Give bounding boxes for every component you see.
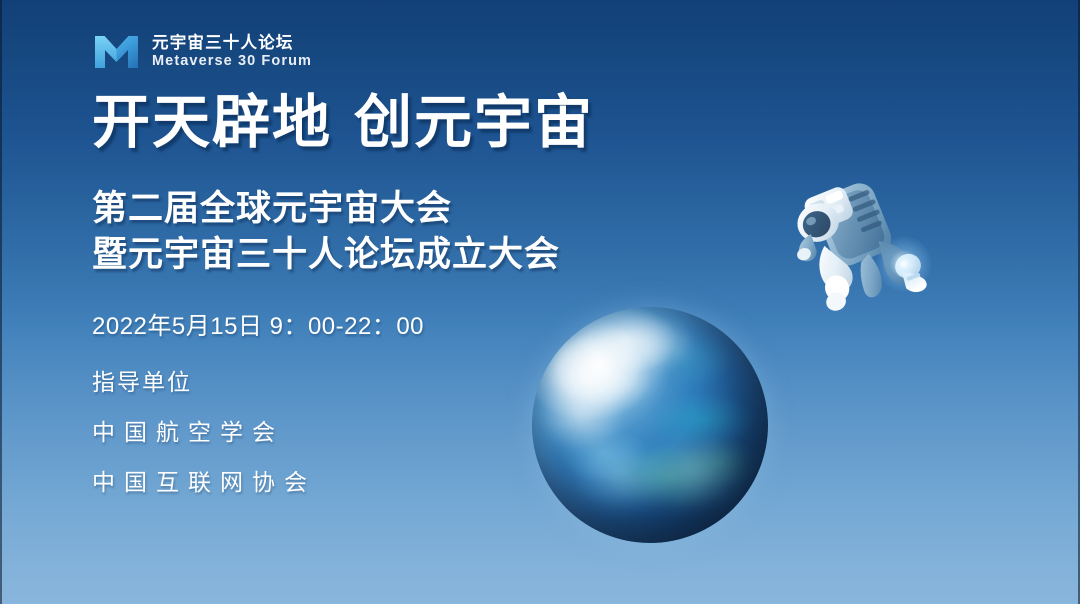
earth-sphere: [532, 307, 768, 543]
headline-part-2: 创元宇宙: [354, 90, 594, 155]
poster-subheadline: 第二届全球元宇宙大会 暨元宇宙三十人论坛成立大会: [92, 186, 560, 278]
earth-globe: [532, 307, 768, 543]
headline-part-1: 开天辟地: [92, 90, 332, 155]
frame-edge-left: [0, 0, 2, 604]
poster-headline: 开天辟地创元宇宙: [92, 92, 594, 155]
event-details: 2022年5月15日 9：00-22：00 指导单位 中国航空学会 中国互联网协…: [92, 306, 424, 513]
forum-logo: 元宇宙三十人论坛 Metaverse 30 Forum: [92, 28, 312, 75]
organizer-item: 中国互联网协会: [92, 463, 424, 497]
logo-chinese-name: 元宇宙三十人论坛: [152, 35, 312, 52]
subheadline-line-2: 暨元宇宙三十人论坛成立大会: [92, 232, 560, 278]
floating-astronaut: [780, 152, 940, 324]
organizer-item: 中国航空学会: [92, 413, 424, 447]
astronaut-illustration: [780, 152, 940, 324]
logo-english-name: Metaverse 30 Forum: [152, 54, 312, 69]
organizer-label: 指导单位: [92, 363, 424, 397]
event-datetime: 2022年5月15日 9：00-22：00: [92, 306, 424, 341]
subheadline-line-1: 第二届全球元宇宙大会: [92, 186, 560, 232]
event-poster: 元宇宙三十人论坛 Metaverse 30 Forum 开天辟地创元宇宙 第二届…: [0, 0, 1080, 604]
metaverse-m-logo-icon: [92, 28, 141, 75]
earth-shading: [532, 307, 768, 543]
logo-text-block: 元宇宙三十人论坛 Metaverse 30 Forum: [152, 35, 312, 69]
